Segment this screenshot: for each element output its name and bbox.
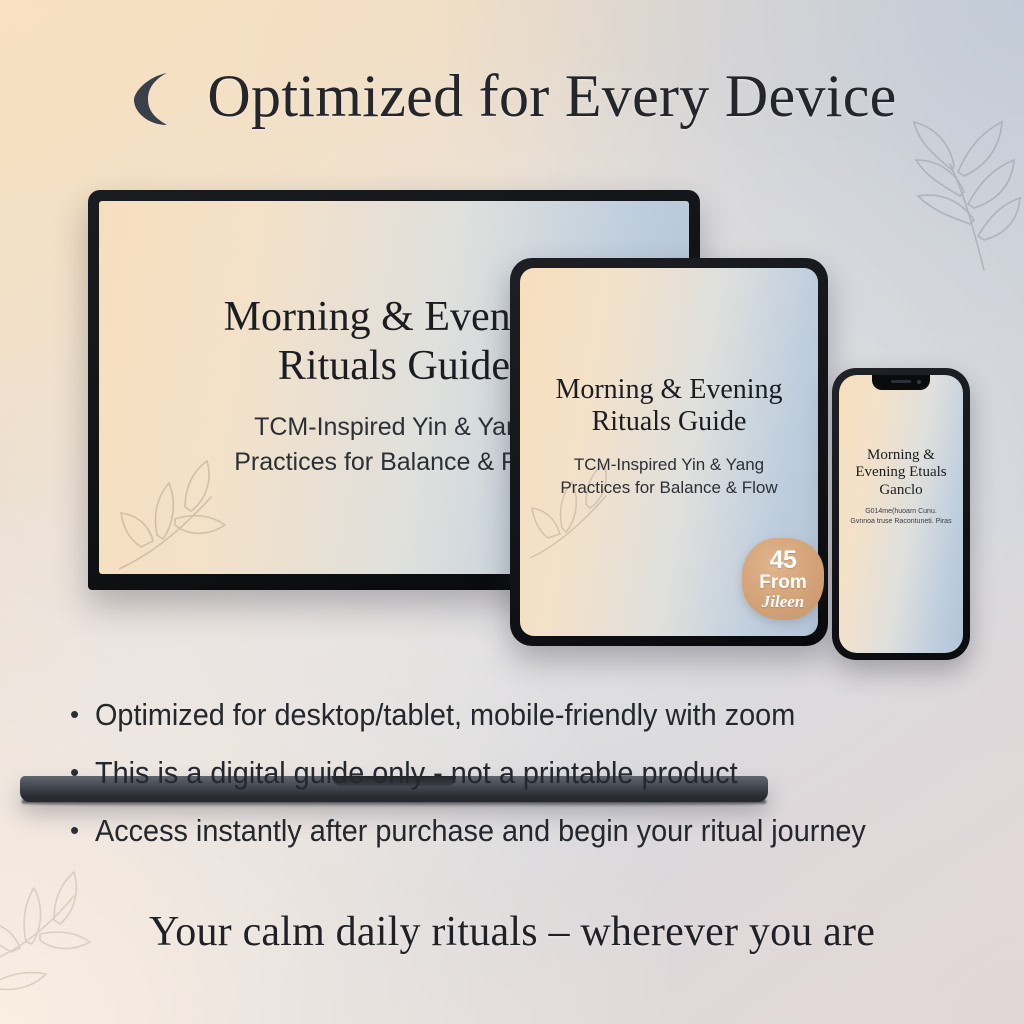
phone-notch [872,375,930,390]
phone-subtitle-line-1: G014me(huoarn Cunu. [839,507,963,517]
phone-speaker-icon [891,380,911,383]
phone-camera-icon [917,380,921,384]
phone-title-line-1: Morning & [839,447,963,464]
bullet-marker-icon: • [70,701,79,727]
phone-title-line-3: Ganclo [839,482,963,499]
list-item: • Optimized for desktop/tablet, mobile-f… [70,698,1020,732]
list-item: • Access instantly after purchase and be… [70,814,1020,848]
phone-device: Morning & Evening Etuals Ganclo G014me(h… [832,368,970,660]
price-badge: 45 From Jileen [742,538,824,620]
badge-name-label: Jileen [762,593,805,611]
phone-frame: Morning & Evening Etuals Ganclo G014me(h… [832,368,970,660]
bullet-text-3: Access instantly after purchase and begi… [95,814,866,848]
badge-from-label: From [759,573,807,593]
phone-subtitle-line-2: Gvnnoa truse Racontuneti. Piras [839,517,963,527]
phone-title-line-2: Evening Etuals [839,464,963,481]
bullet-text-2: This is a digital guide only - not a pri… [95,756,738,790]
tablet-title-line-2: Rituals Guide [520,406,818,438]
phone-screen-artwork: Morning & Evening Etuals Ganclo G014me(h… [839,375,963,653]
badge-number: 45 [770,548,797,573]
list-item: • This is a digital guide only - not a p… [70,756,1020,790]
tablet-subtitle-line-2: Practices for Balance & Flow [520,476,818,499]
bullet-marker-icon: • [70,817,79,843]
feature-bullet-list: • Optimized for desktop/tablet, mobile-f… [70,698,1020,872]
tablet-subtitle-line-1: TCM-Inspired Yin & Yang [520,453,818,476]
bullet-text-1: Optimized for desktop/tablet, mobile-fri… [95,698,795,732]
footer-tagline: Your calm daily rituals – wherever you a… [0,908,1024,956]
bullet-marker-icon: • [70,759,79,785]
phone-screen: Morning & Evening Etuals Ganclo G014me(h… [839,375,963,653]
tablet-title-line-1: Morning & Evening [520,374,818,406]
